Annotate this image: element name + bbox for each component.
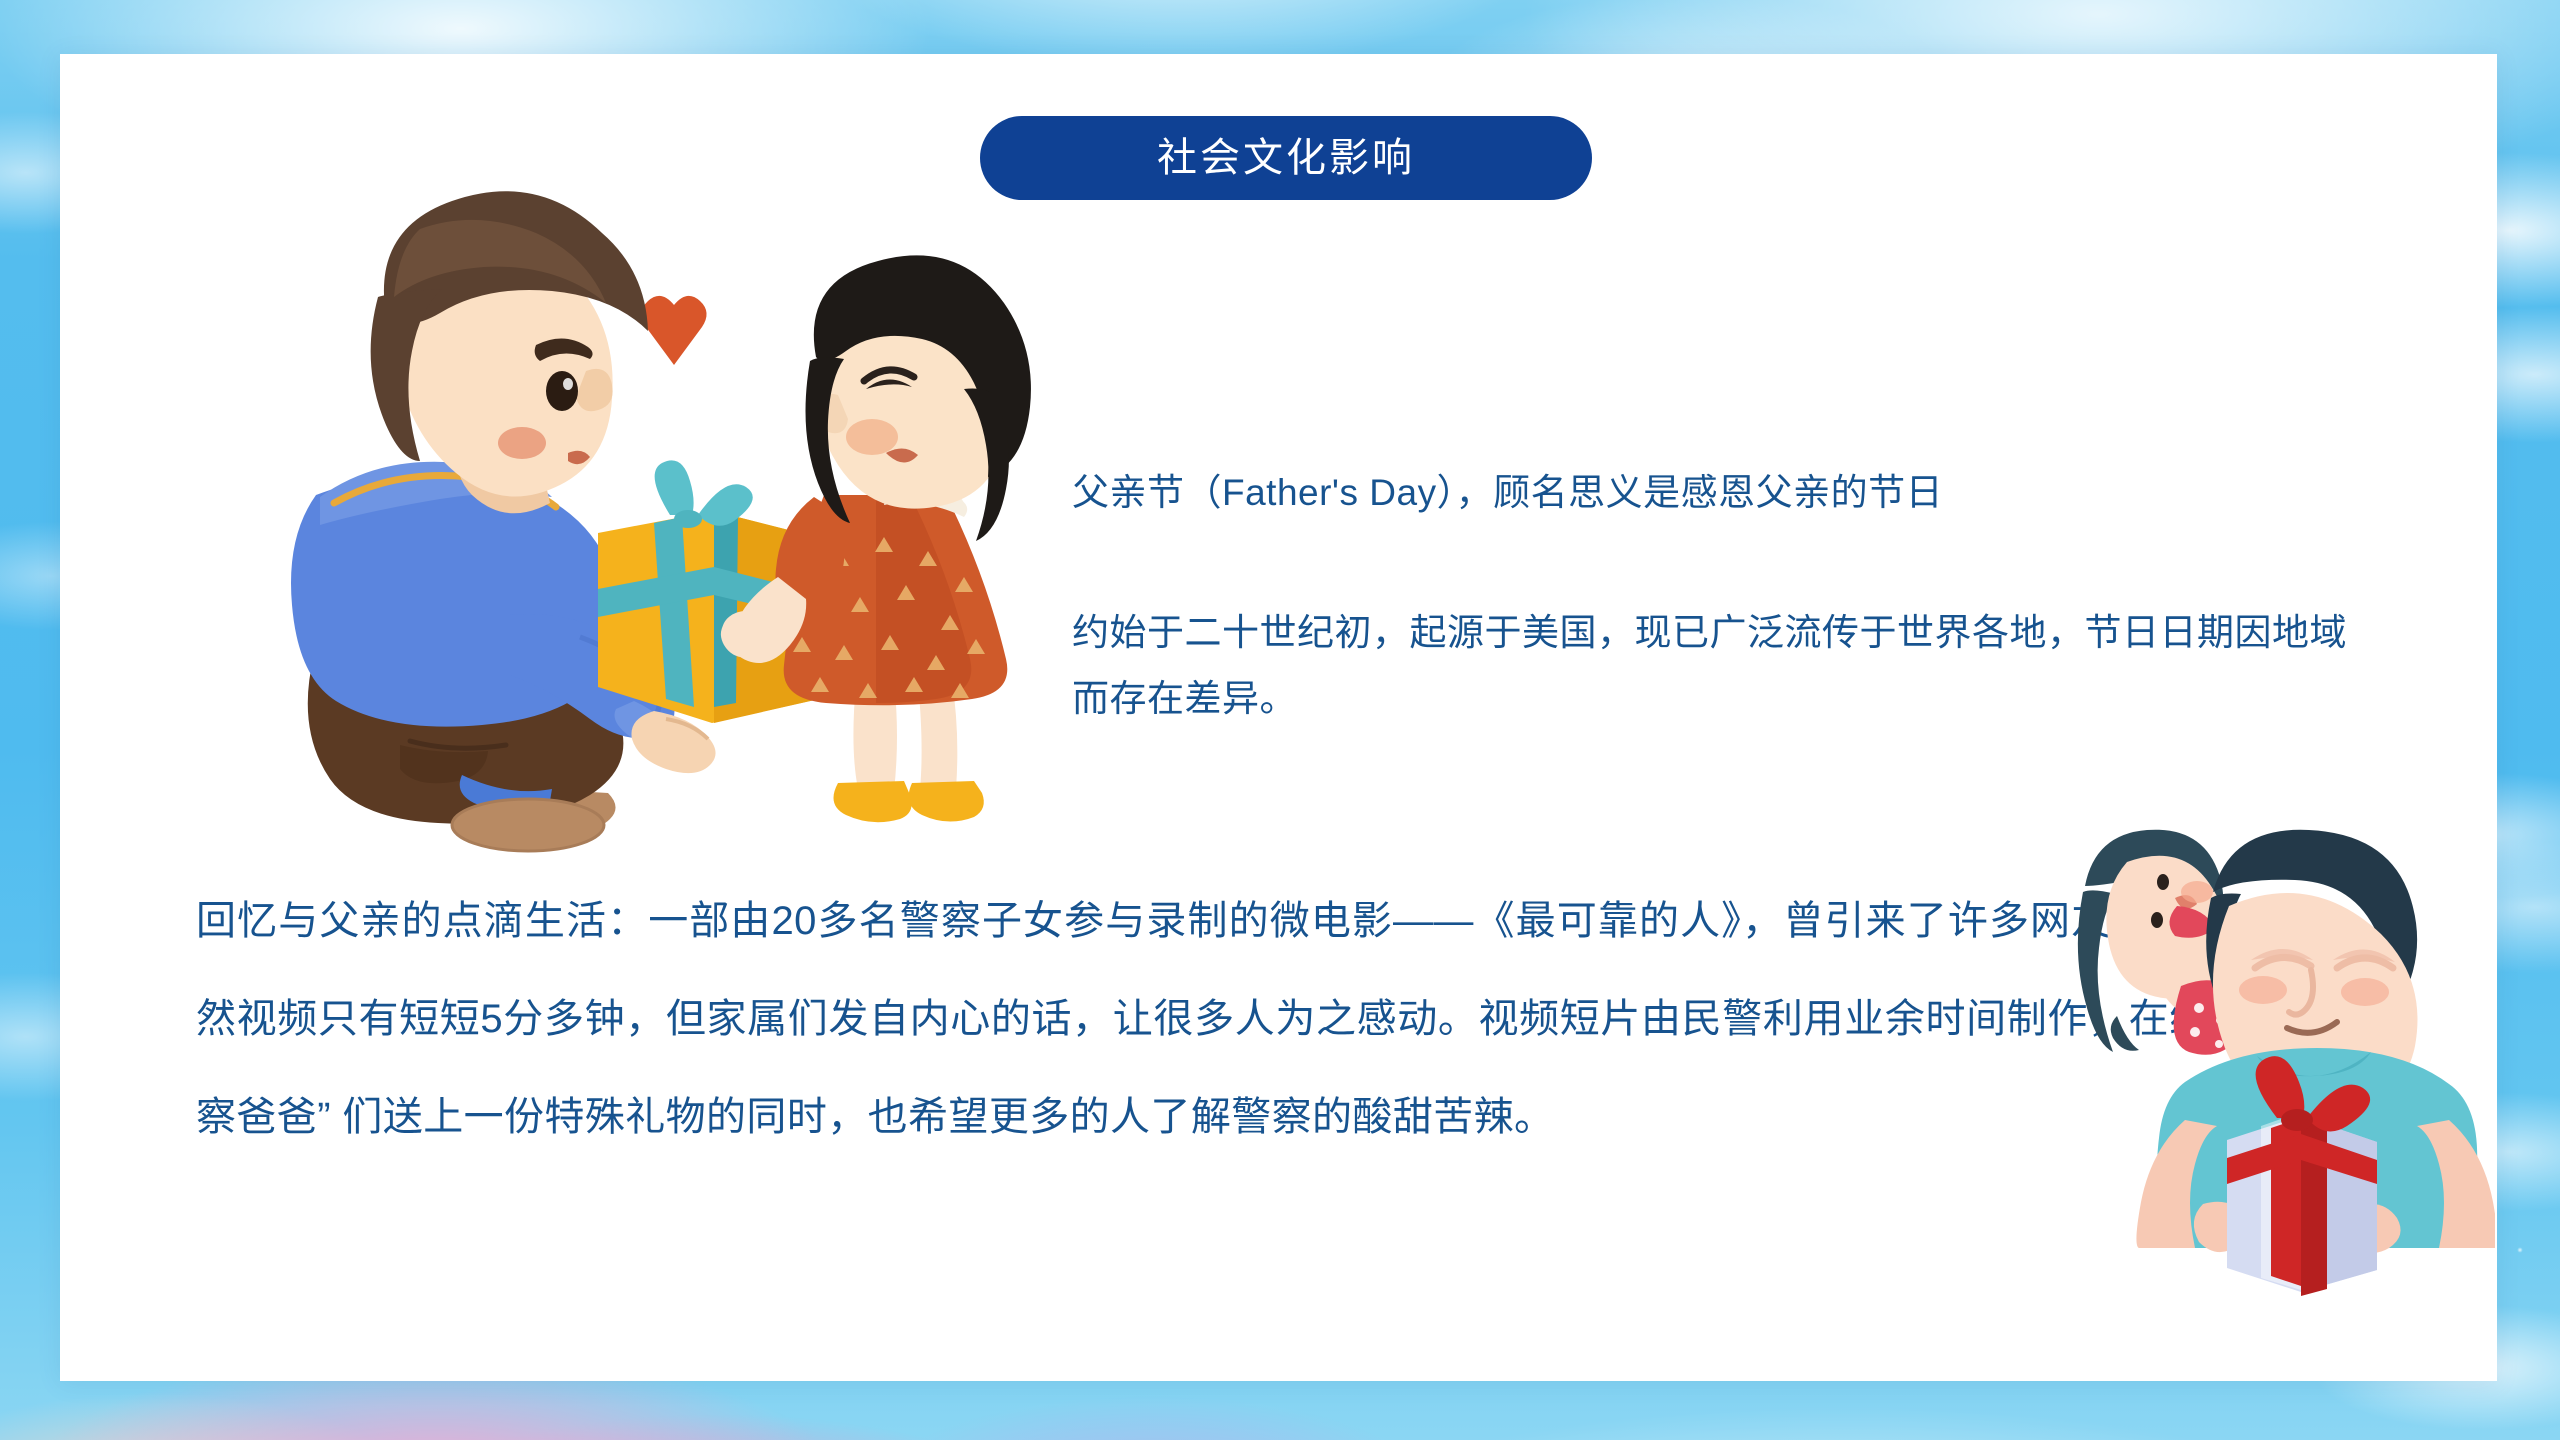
intro-paragraph: 约始于二十世纪初，起源于美国，现已广泛流传于世界各地，节日日期因地域而存在差异。 <box>1072 600 2372 732</box>
intro-text-block: 父亲节（Father's Day），顾名思义是感恩父亲的节日 约始于二十世纪初，… <box>1072 460 2402 732</box>
story-paragraph: 回忆与父亲的点滴生活：一部由20多名警察子女参与录制的微电影——《最可靠的人》，… <box>196 872 2276 1166</box>
illustration-child-covering-eyes <box>2065 820 2495 1300</box>
page-title: 社会文化影响 <box>1157 138 1415 178</box>
section-title-pill: 社会文化影响 <box>980 116 1592 200</box>
heart-icon <box>641 296 706 365</box>
slide: 社会文化影响 <box>0 0 2560 1440</box>
intro-line-1: 父亲节（Father's Day），顾名思义是感恩父亲的节日 <box>1072 460 2402 526</box>
illustration-father-and-daughter <box>250 185 1040 865</box>
story-text-block: 回忆与父亲的点滴生活：一部由20多名警察子女参与录制的微电影——《最可靠的人》，… <box>196 872 2276 1166</box>
